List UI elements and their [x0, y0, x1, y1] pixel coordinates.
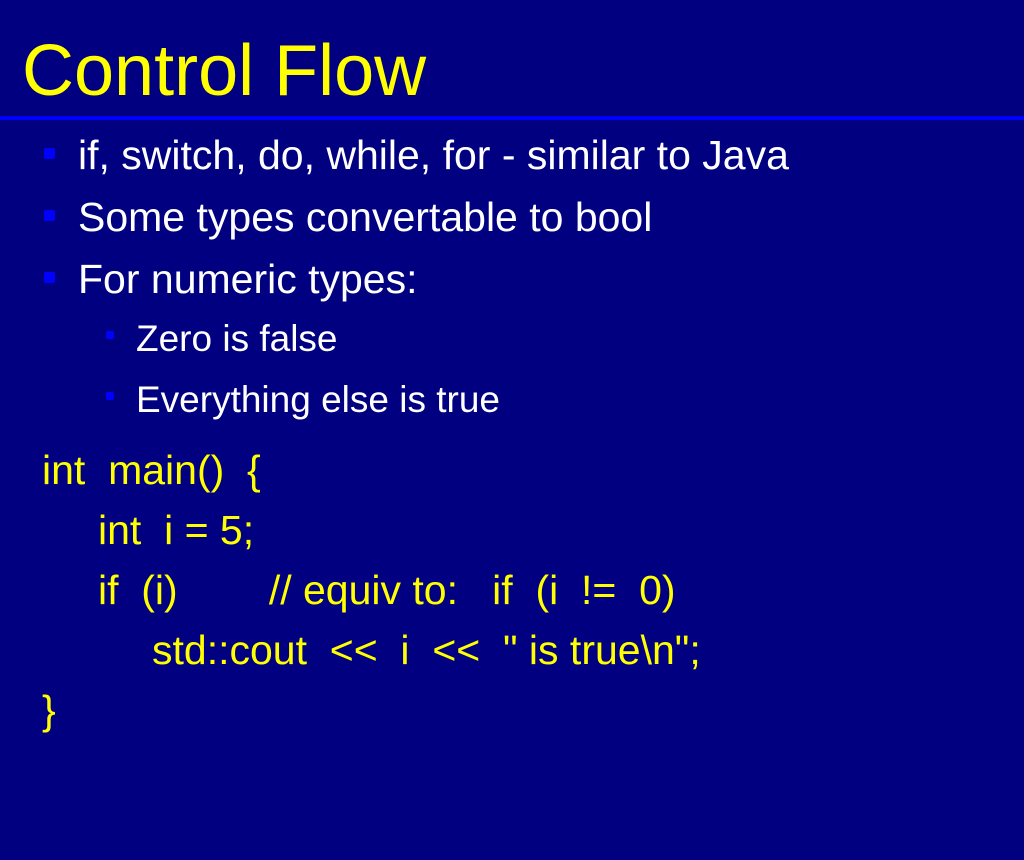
bullet-list: if, switch, do, while, for - similar to …: [0, 126, 1024, 434]
code-line: int i = 5;: [0, 500, 1024, 560]
list-item: if, switch, do, while, for - similar to …: [0, 126, 1024, 188]
code-line-text: if (i) // equiv to: if (i != 0): [98, 560, 676, 620]
list-item-label: Some types convertable to bool: [78, 188, 652, 246]
list-item-label: For numeric types:: [78, 250, 418, 308]
slide-title-block: Control Flow: [0, 0, 1024, 121]
code-line: int main() {: [0, 440, 1024, 500]
code-line-text: int main() {: [42, 440, 261, 500]
list-item-label: Everything else is true: [136, 371, 500, 429]
page-title: Control Flow: [22, 33, 426, 109]
slide: Control Flow if, switch, do, while, for …: [0, 0, 1024, 768]
square-bullet-icon: [106, 331, 114, 339]
code-sample-block: int main() { int i = 5; if (i) // equiv …: [0, 440, 1024, 740]
list-item-label: if, switch, do, while, for - similar to …: [78, 126, 789, 184]
list-item: For numeric types:: [0, 250, 1024, 312]
list-item: Some types convertable to bool: [0, 188, 1024, 250]
code-line-text: std::cout << i << " is true\n";: [152, 620, 701, 680]
list-item: Zero is false: [0, 312, 1024, 373]
code-line: }: [0, 680, 1024, 740]
square-bullet-icon: [44, 272, 55, 283]
square-bullet-icon: [106, 392, 114, 400]
list-item: Everything else is true: [0, 373, 1024, 434]
code-line-text: int i = 5;: [98, 500, 254, 560]
code-line-text: }: [42, 680, 56, 740]
title-divider-rule: [0, 116, 1024, 120]
code-line: std::cout << i << " is true\n";: [0, 620, 1024, 680]
list-item-label: Zero is false: [136, 310, 338, 368]
square-bullet-icon: [44, 210, 55, 221]
square-bullet-icon: [44, 148, 55, 159]
code-line: if (i) // equiv to: if (i != 0): [0, 560, 1024, 620]
